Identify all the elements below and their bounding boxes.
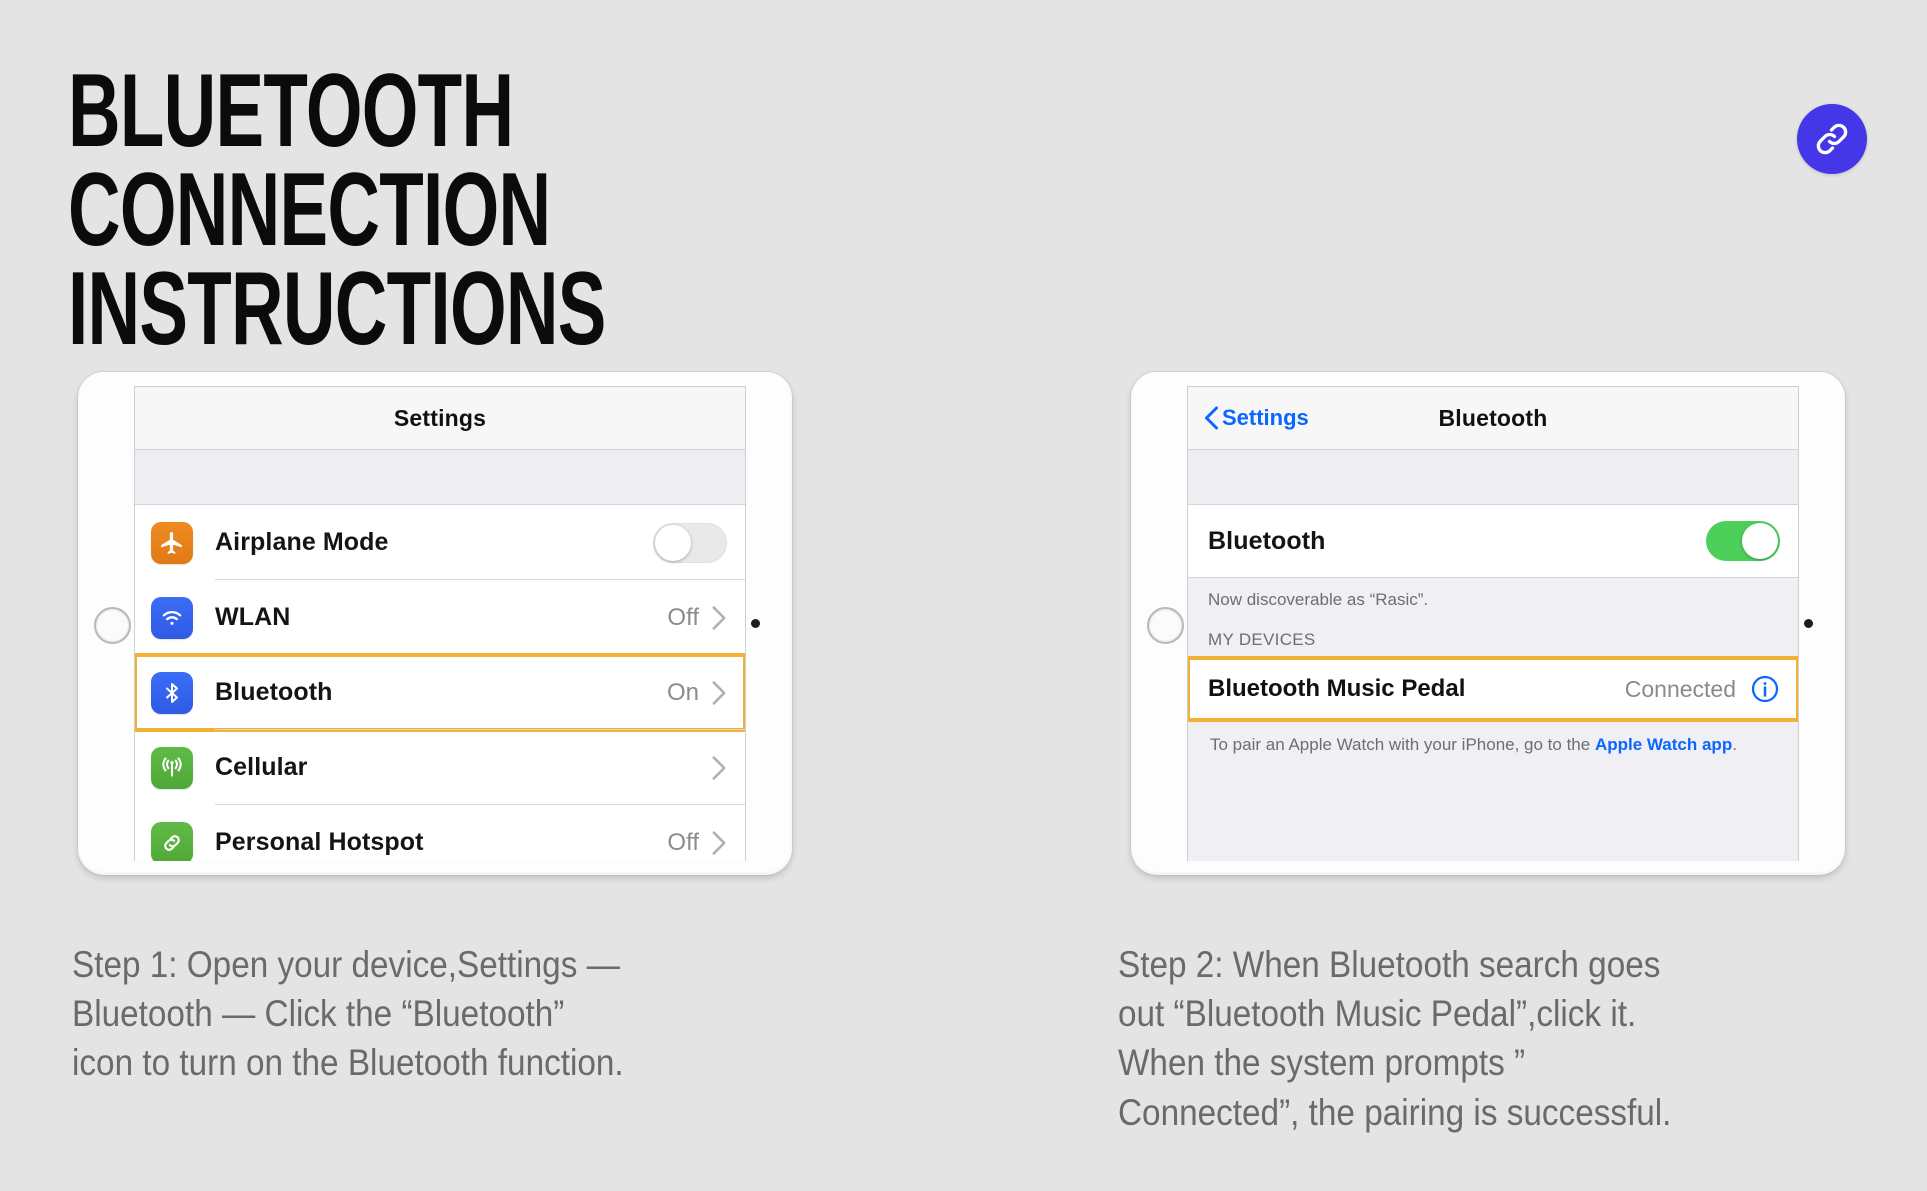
camera-icon [1804, 619, 1813, 628]
settings-list: Airplane Mode WLAN [135, 505, 745, 861]
page-header: BLUETOOTH CONNECTION INSTRUCTIONS [0, 0, 1927, 300]
settings-row-label: WLAN [215, 603, 290, 632]
toggle-knob [655, 525, 691, 561]
apple-watch-footer-note: To pair an Apple Watch with your iPhone,… [1188, 720, 1798, 770]
tablet-device-step2: Settings Bluetooth Bluetooth Now discove… [1131, 372, 1845, 875]
my-devices-header: MY DEVICES [1188, 616, 1798, 658]
settings-row-airplane-mode[interactable]: Airplane Mode [135, 505, 745, 580]
airplane-mode-toggle[interactable] [653, 523, 727, 563]
settings-screen: Settings Airplane Mode [134, 386, 746, 861]
navbar-title: Bluetooth [1438, 405, 1547, 432]
bluetooth-icon [151, 672, 193, 714]
back-to-settings-button[interactable]: Settings [1204, 405, 1309, 431]
navbar-title: Settings [394, 405, 486, 432]
settings-row-wlan[interactable]: WLAN Off [135, 580, 745, 655]
chevron-right-icon [711, 680, 727, 706]
settings-row-personal-hotspot[interactable]: Personal Hotspot Off [135, 805, 745, 861]
device-name: Bluetooth Music Pedal [1208, 675, 1465, 703]
bluetooth-master-row[interactable]: Bluetooth [1188, 505, 1798, 577]
settings-row-control [711, 755, 727, 781]
link-icon[interactable] [1797, 104, 1867, 174]
airplane-icon [151, 522, 193, 564]
footer-note-period: . [1732, 735, 1737, 754]
list-top-spacer [135, 450, 745, 505]
settings-row-bluetooth[interactable]: Bluetooth On [135, 655, 745, 730]
chevron-left-icon [1204, 405, 1219, 431]
settings-row-label: Airplane Mode [215, 528, 389, 557]
bluetooth-navbar: Settings Bluetooth [1188, 387, 1798, 450]
settings-navbar: Settings [135, 387, 745, 450]
page-title: BLUETOOTH CONNECTION INSTRUCTIONS [68, 62, 943, 358]
bluetooth-row-control [1706, 521, 1780, 561]
step1-caption: Step 1: Open your device,Settings — Blue… [72, 940, 810, 1088]
home-button[interactable] [1147, 607, 1184, 644]
device-row-bluetooth-music-pedal[interactable]: Bluetooth Music Pedal Connected [1188, 658, 1798, 720]
home-button[interactable] [94, 607, 131, 644]
device-status: Connected [1625, 676, 1736, 703]
chevron-right-icon [711, 755, 727, 781]
wifi-icon [151, 597, 193, 639]
back-button-label: Settings [1222, 405, 1309, 431]
settings-row-value: On [667, 679, 699, 707]
footer-note-text: To pair an Apple Watch with your iPhone,… [1210, 735, 1595, 754]
bluetooth-row-label: Bluetooth [1208, 527, 1326, 556]
chevron-right-icon [711, 830, 727, 856]
step2-caption: Step 2: When Bluetooth search goes out “… [1118, 940, 1856, 1137]
info-circle-icon[interactable] [1750, 674, 1780, 704]
settings-row-cellular[interactable]: Cellular [135, 730, 745, 805]
chevron-right-icon [711, 605, 727, 631]
settings-row-label: Bluetooth [215, 678, 333, 707]
settings-row-label: Personal Hotspot [215, 828, 424, 857]
row-separator [215, 729, 745, 730]
settings-row-label: Cellular [215, 753, 308, 782]
cellular-icon [151, 747, 193, 789]
bluetooth-screen: Settings Bluetooth Bluetooth Now discove… [1187, 386, 1799, 861]
toggle-knob [1742, 523, 1778, 559]
settings-row-value: Off [667, 829, 699, 857]
camera-icon [751, 619, 760, 628]
tablet-device-step1: Settings Airplane Mode [78, 372, 792, 875]
settings-row-control [653, 523, 727, 563]
discoverable-note: Now discoverable as “Rasic”. [1188, 577, 1798, 616]
bluetooth-toggle[interactable] [1706, 521, 1780, 561]
hotspot-icon [151, 822, 193, 862]
bluetooth-toggle-group: Bluetooth [1188, 505, 1798, 577]
apple-watch-app-link[interactable]: Apple Watch app [1595, 735, 1732, 754]
settings-row-control: On [667, 679, 727, 707]
settings-row-control: Off [667, 604, 727, 632]
settings-row-control: Off [667, 829, 727, 857]
list-top-spacer [1188, 450, 1798, 505]
settings-row-value: Off [667, 604, 699, 632]
